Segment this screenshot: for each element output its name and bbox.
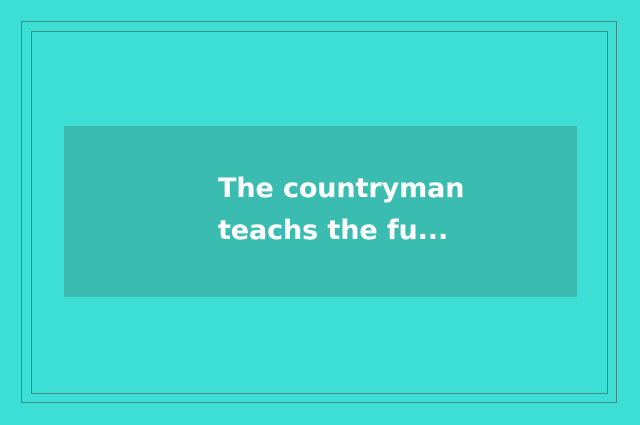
image-canvas: The countryman teachs the fu... [0, 0, 640, 425]
caption-text: The countryman teachs the fu... [218, 168, 558, 252]
caption-panel: The countryman teachs the fu... [64, 126, 577, 297]
